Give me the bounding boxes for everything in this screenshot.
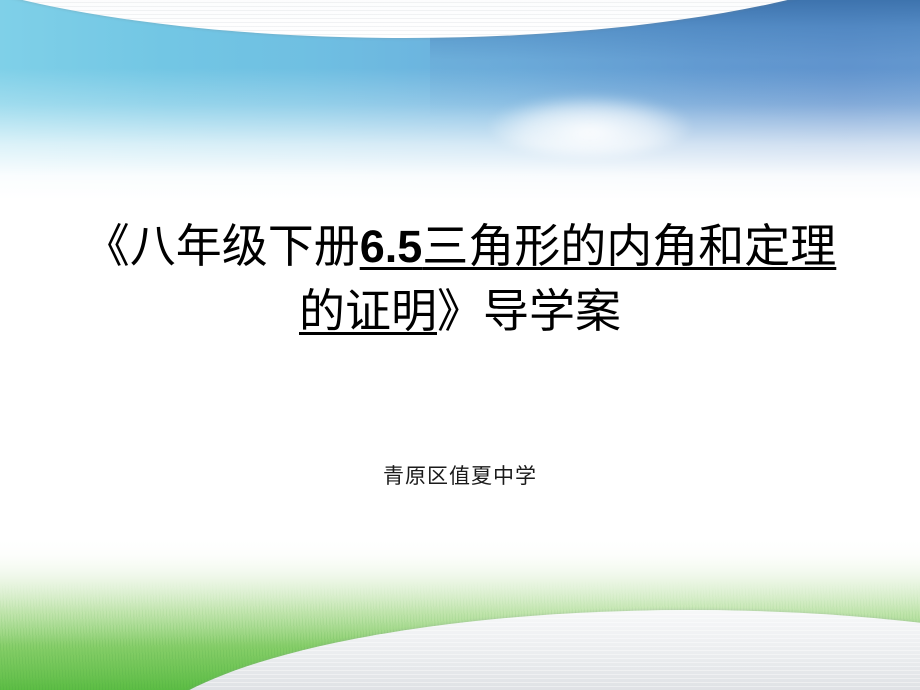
slide-content-layer: 《八年级下册6.5三角形的内角和定理的证明》导学案 青原区值夏中学 xyxy=(0,0,920,690)
title-segment-prefix: 《八年级下册 xyxy=(84,219,360,273)
title-placeholder[interactable]: 《八年级下册6.5三角形的内角和定理的证明》导学案 xyxy=(70,214,850,343)
subtitle-placeholder[interactable]: 青原区值夏中学 xyxy=(70,462,850,492)
presentation-slide: 《八年级下册6.5三角形的内角和定理的证明》导学案 青原区值夏中学 xyxy=(0,0,920,690)
slide-title: 《八年级下册6.5三角形的内角和定理的证明》导学案 xyxy=(70,214,850,343)
title-segment-section-number: 6.5 xyxy=(360,221,423,272)
title-segment-suffix: 》导学案 xyxy=(437,284,621,338)
slide-subtitle: 青原区值夏中学 xyxy=(70,462,850,492)
